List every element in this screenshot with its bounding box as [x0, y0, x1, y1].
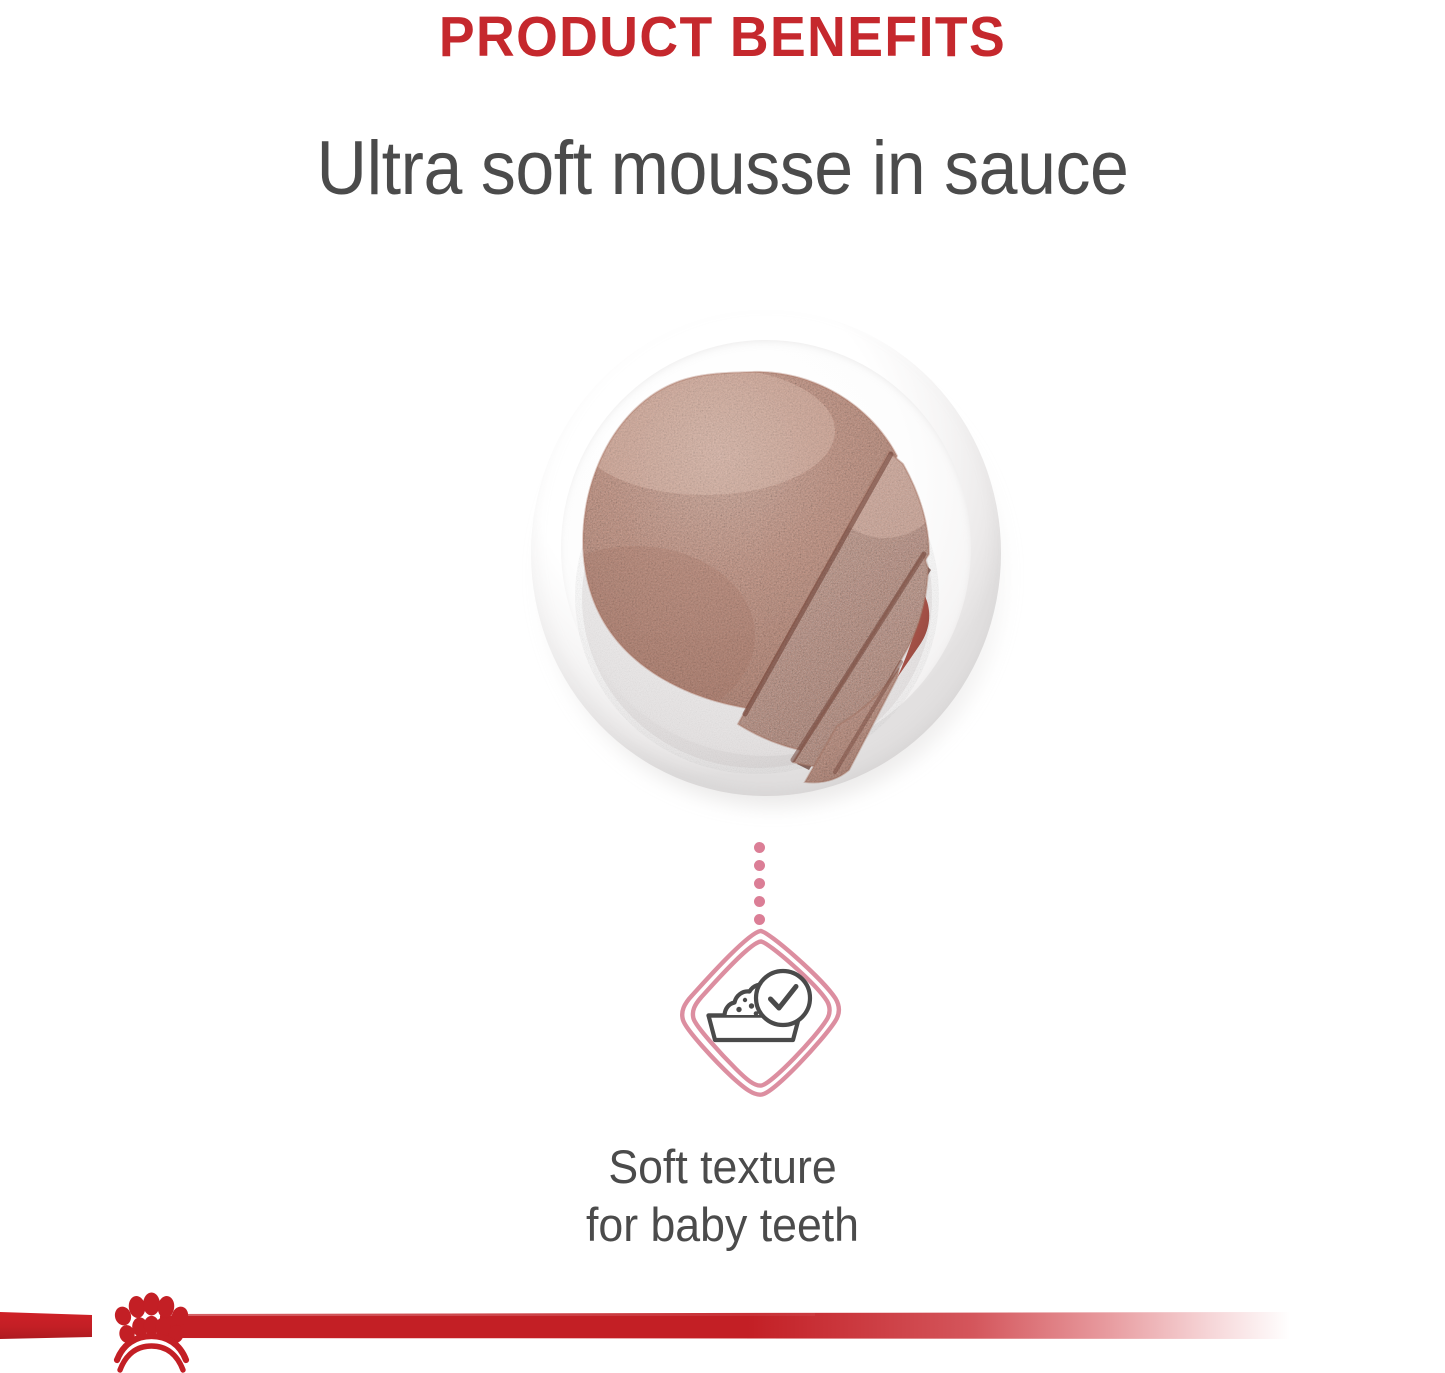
royal-canin-crown-paw-logo: [96, 1286, 196, 1373]
connector-dot: [754, 860, 765, 871]
dotted-connector: [754, 842, 766, 926]
connector-dot: [754, 896, 765, 907]
page-subtitle: Ultra soft mousse in sauce: [58, 122, 1387, 216]
page-title: PRODUCT BENEFITS: [43, 4, 1401, 70]
benefit-caption: Soft texture for baby teeth: [36, 1138, 1409, 1254]
benefit-caption-line-2: for baby teeth: [36, 1196, 1409, 1254]
footer-brand-bar: [0, 1286, 1445, 1373]
brand-accent-bar-right: [160, 1312, 1290, 1339]
brand-accent-bar-left: [0, 1312, 92, 1339]
mousse-loaf: [505, 296, 1021, 812]
connector-dot: [754, 842, 765, 853]
product-food-photo: [505, 296, 1021, 812]
food-bowl-with-checkmark-icon: [672, 922, 848, 1104]
connector-dot: [754, 878, 765, 889]
benefit-caption-line-1: Soft texture: [36, 1138, 1409, 1196]
